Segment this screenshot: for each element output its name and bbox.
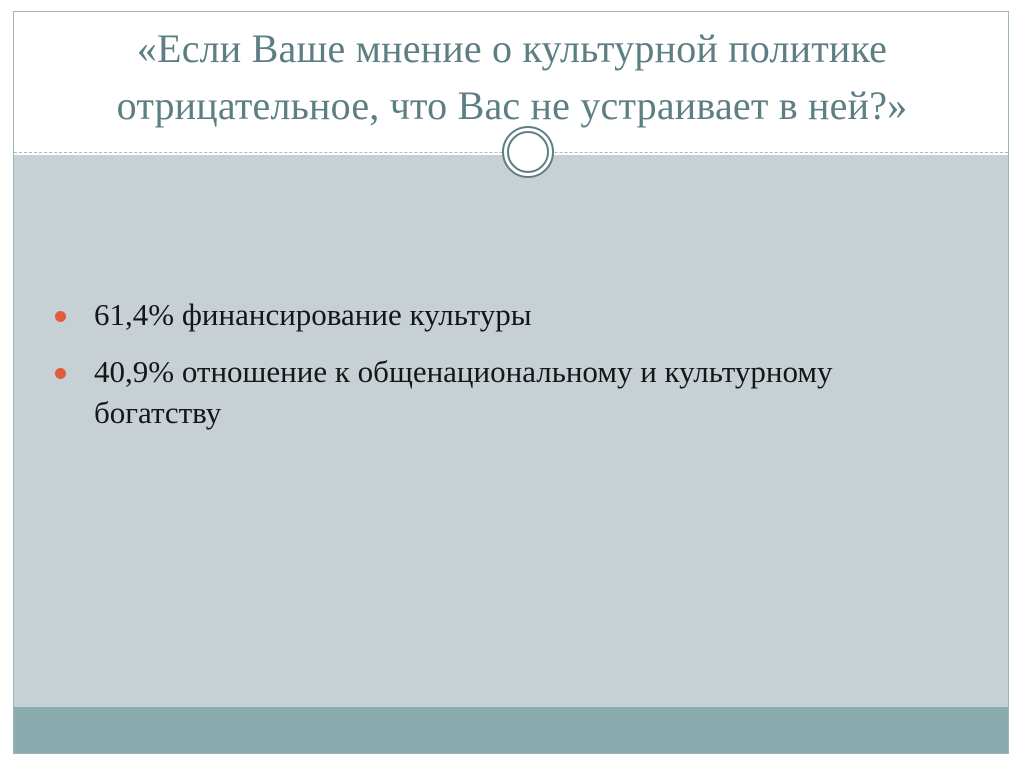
list-item-text: 61,4% финансирование культуры	[94, 297, 532, 332]
list-item: 40,9% отношение к общенациональному и ку…	[38, 352, 918, 434]
slide-stage: «Если Ваше мнение о культурной политике …	[0, 0, 1024, 767]
bullet-dot-icon	[55, 368, 66, 379]
footer-accent-bar	[14, 707, 1008, 753]
bullet-list: 61,4% финансирование культуры 40,9% отно…	[38, 295, 918, 450]
circle-ornament-icon	[502, 126, 554, 178]
circle-ornament-inner-ring	[507, 131, 549, 173]
page-title: «Если Ваше мнение о культурной политике …	[48, 21, 976, 135]
list-item-text: 40,9% отношение к общенациональному и ку…	[94, 354, 833, 430]
bullet-dot-icon	[55, 311, 66, 322]
slide-body: 61,4% финансирование культуры 40,9% отно…	[14, 155, 1008, 707]
presentation-slide: «Если Ваше мнение о культурной политике …	[13, 11, 1009, 754]
list-item: 61,4% финансирование культуры	[38, 295, 918, 336]
